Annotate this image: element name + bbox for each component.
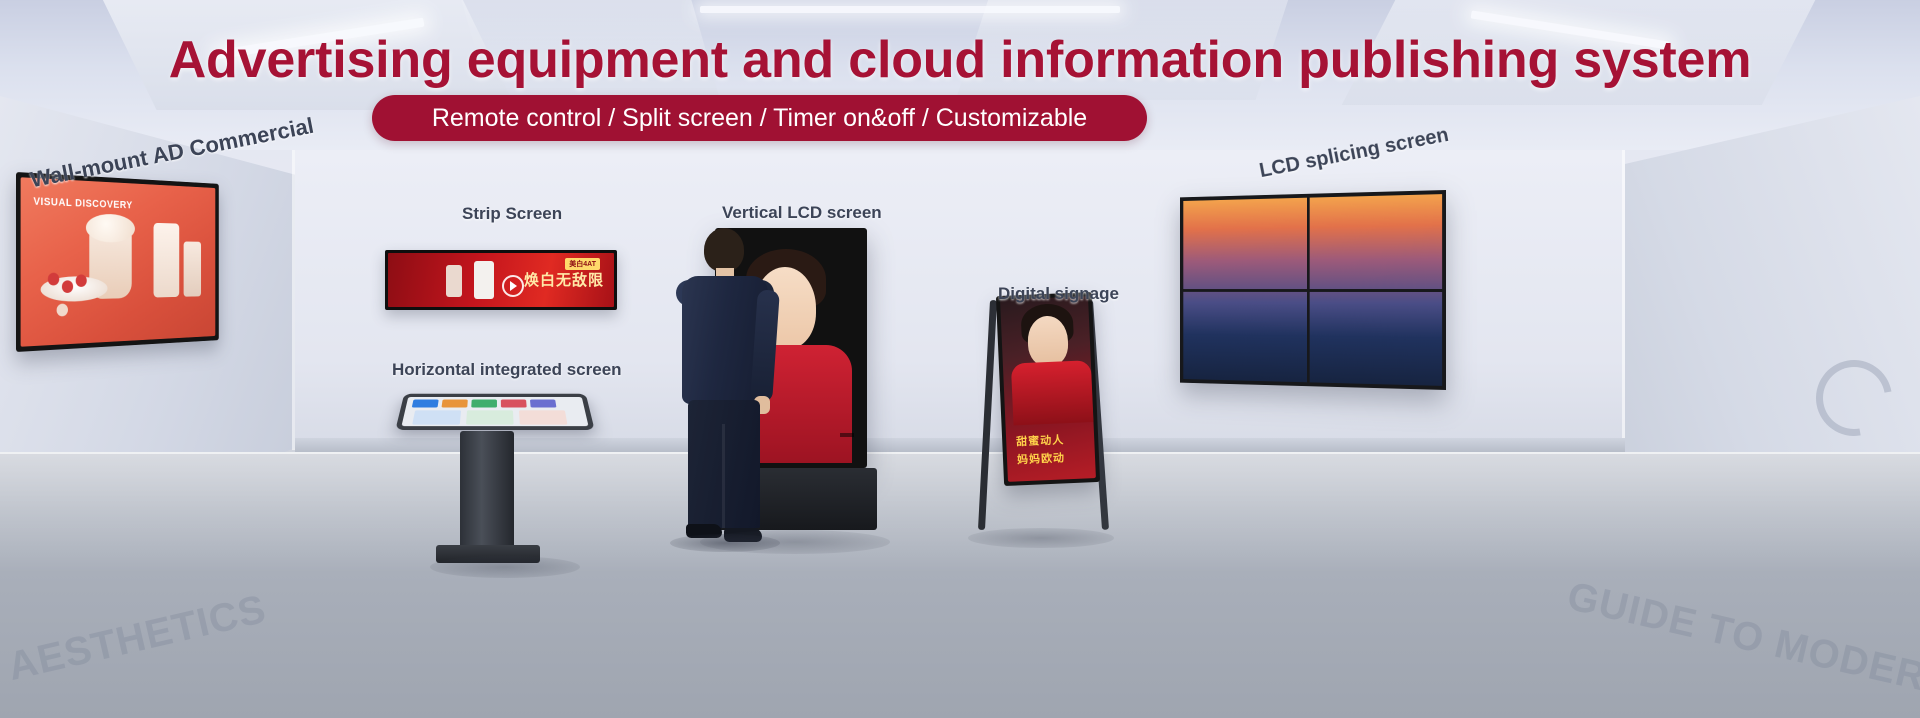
dashboard-tile xyxy=(501,400,527,408)
banner-stage: T AESTHETICS GUIDE TO MODERN Advertising… xyxy=(0,0,1920,718)
label-strip-screen: Strip Screen xyxy=(462,204,562,224)
play-icon xyxy=(502,275,524,297)
dashboard-chart xyxy=(519,410,568,424)
signage-headline-1: 甜蜜动人 xyxy=(1016,431,1065,449)
splicing-grid xyxy=(1183,194,1442,386)
strip-screen-display: 美白4AT 焕白无敌限 xyxy=(385,250,617,310)
strip-headline: 焕白无敌限 xyxy=(524,269,604,290)
lcd-splicing-wall xyxy=(1180,190,1446,390)
ceiling-light xyxy=(700,6,1120,13)
page-title: Advertising equipment and cloud informat… xyxy=(0,30,1920,90)
feature-pill: Remote control / Split screen / Timer on… xyxy=(372,95,1147,141)
dashboard-tile xyxy=(441,400,467,408)
wall-seam xyxy=(1622,150,1625,450)
label-digital-signage: Digital signage xyxy=(998,284,1119,304)
signage-headline-2: 妈妈欧动 xyxy=(1017,449,1066,467)
product-bottle xyxy=(184,242,201,297)
product-macaron xyxy=(57,304,68,317)
wall-mount-screen-content: VISUAL DISCOVERY xyxy=(21,177,216,346)
strip-screen-content: 美白4AT 焕白无敌限 xyxy=(388,253,614,307)
floor-reflection xyxy=(0,452,1920,572)
digital-signage-content: 甜蜜动人 妈妈欧动 xyxy=(1000,296,1096,482)
kiosk-touch-screen xyxy=(395,394,594,430)
dashboard-chart xyxy=(412,410,461,424)
label-vertical-lcd: Vertical LCD screen xyxy=(722,203,882,223)
person-leg-split xyxy=(722,424,725,528)
floor-reflection-kiosk xyxy=(430,556,580,578)
dashboard-tile xyxy=(471,400,497,408)
dashboard-chart xyxy=(466,410,514,424)
wall-mount-caption: VISUAL DISCOVERY xyxy=(33,196,132,211)
splicing-panel xyxy=(1309,194,1442,288)
floor-wall-joint xyxy=(0,452,1920,454)
dashboard-tile xyxy=(530,400,557,408)
wall-seam xyxy=(292,150,295,450)
model-outfit xyxy=(1011,360,1094,425)
splicing-panel xyxy=(1183,198,1306,289)
product-cream xyxy=(86,213,135,242)
feature-pill-label: Remote control / Split screen / Timer on… xyxy=(432,104,1087,133)
product-bottle xyxy=(154,223,180,298)
person-figure xyxy=(662,228,782,558)
floor-reflection-vlcd xyxy=(700,530,890,554)
screen-indicator xyxy=(840,433,854,437)
label-horizontal-integrated: Horizontal integrated screen xyxy=(392,360,622,380)
product-bottle xyxy=(474,261,494,299)
kiosk-stand xyxy=(460,431,514,551)
splicing-panel xyxy=(1183,291,1306,382)
person-head xyxy=(704,228,744,272)
product-berry xyxy=(48,273,59,286)
product-bottle xyxy=(446,265,462,297)
splicing-panel xyxy=(1309,291,1442,385)
floor-reflection-signage xyxy=(968,528,1114,548)
wall-mount-display: VISUAL DISCOVERY xyxy=(16,172,219,352)
dashboard-tile xyxy=(412,400,439,408)
digital-signage-display: 甜蜜动人 妈妈欧动 xyxy=(996,292,1100,486)
